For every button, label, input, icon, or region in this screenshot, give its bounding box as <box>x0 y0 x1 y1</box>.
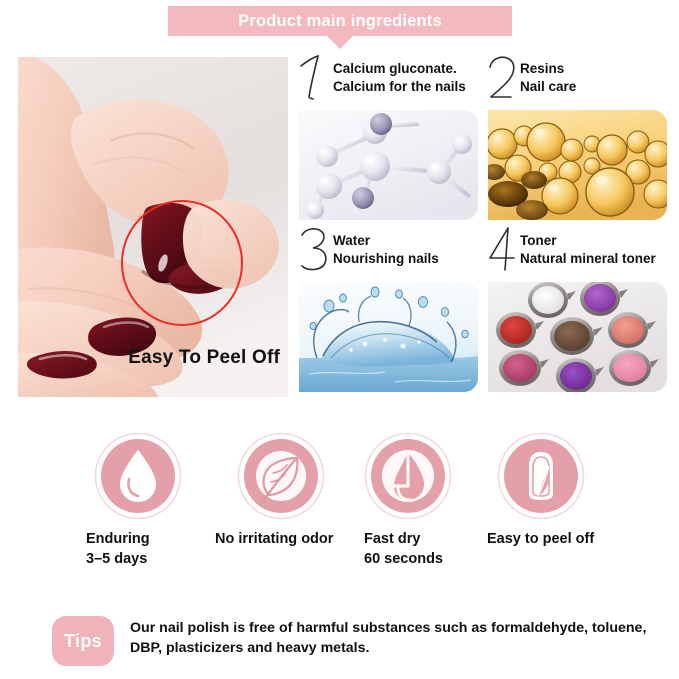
feature-fast-dry: Fast dry 60 seconds <box>346 432 478 569</box>
fast-dry-clock-icon <box>364 432 452 520</box>
feature-1-badge <box>94 432 182 520</box>
ingredient-card-4: Toner Natural mineral toner <box>486 230 669 398</box>
ingredient-card-3: Water Nourishing nails <box>297 230 480 398</box>
ingredient-number-3 <box>297 226 331 272</box>
ingredient-3-line1: Water <box>333 232 439 250</box>
ingredient-3-image <box>299 282 478 392</box>
ingredient-2-text: Resins Nail care <box>520 60 576 96</box>
feature-1-label: Enduring 3–5 days <box>86 530 216 569</box>
ingredient-1-line1: Calcium gluconate. <box>333 60 466 78</box>
feature-3-badge <box>364 432 452 520</box>
feature-badges-row: Enduring 3–5 days No irritating odor <box>84 432 644 582</box>
ingredient-2-image <box>488 110 667 220</box>
header-banner: Product main ingredients <box>168 6 512 36</box>
ingredient-number-2 <box>486 54 520 100</box>
feature-4-label: Easy to peel off <box>487 530 609 550</box>
banner-bar: Product main ingredients <box>168 6 512 36</box>
leaf-icon <box>237 432 325 520</box>
ingredient-number-1 <box>297 54 331 100</box>
ingredient-1-line2: Calcium for the nails <box>333 78 466 96</box>
ingredient-4-image <box>488 282 667 392</box>
hero-caption: Easy To Peel Off <box>128 347 280 369</box>
hero-photo-panel: Easy To Peel Off <box>18 57 288 397</box>
peel-nail-icon <box>497 432 585 520</box>
ingredient-2-line1: Resins <box>520 60 576 78</box>
molecule-structure-photo <box>299 110 478 220</box>
feature-4-badge <box>497 432 585 520</box>
ingredient-3-header: Water Nourishing nails <box>297 230 480 282</box>
ingredient-1-image <box>299 110 478 220</box>
feature-3-label: Fast dry 60 seconds <box>364 530 478 569</box>
ingredient-4-line1: Toner <box>520 232 656 250</box>
feature-easy-peel: Easy to peel off <box>477 432 609 550</box>
ingredient-card-1: Calcium gluconate. Calcium for the nails <box>297 58 480 226</box>
banner-notch-triangle <box>327 36 353 49</box>
feature-2-badge <box>237 432 325 520</box>
tips-badge: Tips <box>52 616 114 666</box>
ingredient-number-4 <box>486 226 520 272</box>
ingredient-1-text: Calcium gluconate. Calcium for the nails <box>333 60 466 96</box>
mineral-pigment-powders-photo <box>488 282 667 392</box>
ingredient-4-header: Toner Natural mineral toner <box>486 230 669 282</box>
ingredient-3-text: Water Nourishing nails <box>333 232 439 268</box>
tips-text: Our nail polish is free of harmful subst… <box>130 618 650 658</box>
feature-2-label: No irritating odor <box>215 530 347 550</box>
tips-badge-label: Tips <box>64 631 102 652</box>
ingredient-4-line2: Natural mineral toner <box>520 250 656 268</box>
ingredient-3-line2: Nourishing nails <box>333 250 439 268</box>
ingredient-2-header: Resins Nail care <box>486 58 669 110</box>
highlight-circle-annotation <box>121 200 243 326</box>
golden-oil-bubbles-photo <box>488 110 667 220</box>
ingredient-1-header: Calcium gluconate. Calcium for the nails <box>297 58 480 110</box>
page-title: Product main ingredients <box>238 13 442 30</box>
ingredient-4-text: Toner Natural mineral toner <box>520 232 656 268</box>
water-drop-icon <box>94 432 182 520</box>
feature-enduring: Enduring 3–5 days <box>84 432 216 569</box>
ingredients-grid: Calcium gluconate. Calcium for the nails <box>297 58 669 398</box>
ingredient-2-line2: Nail care <box>520 78 576 96</box>
ingredient-card-2: Resins Nail care <box>486 58 669 226</box>
water-splash-photo <box>299 282 478 392</box>
feature-no-odor: No irritating odor <box>215 432 347 550</box>
tips-strip: Tips Our nail polish is free of harmful … <box>52 614 652 670</box>
